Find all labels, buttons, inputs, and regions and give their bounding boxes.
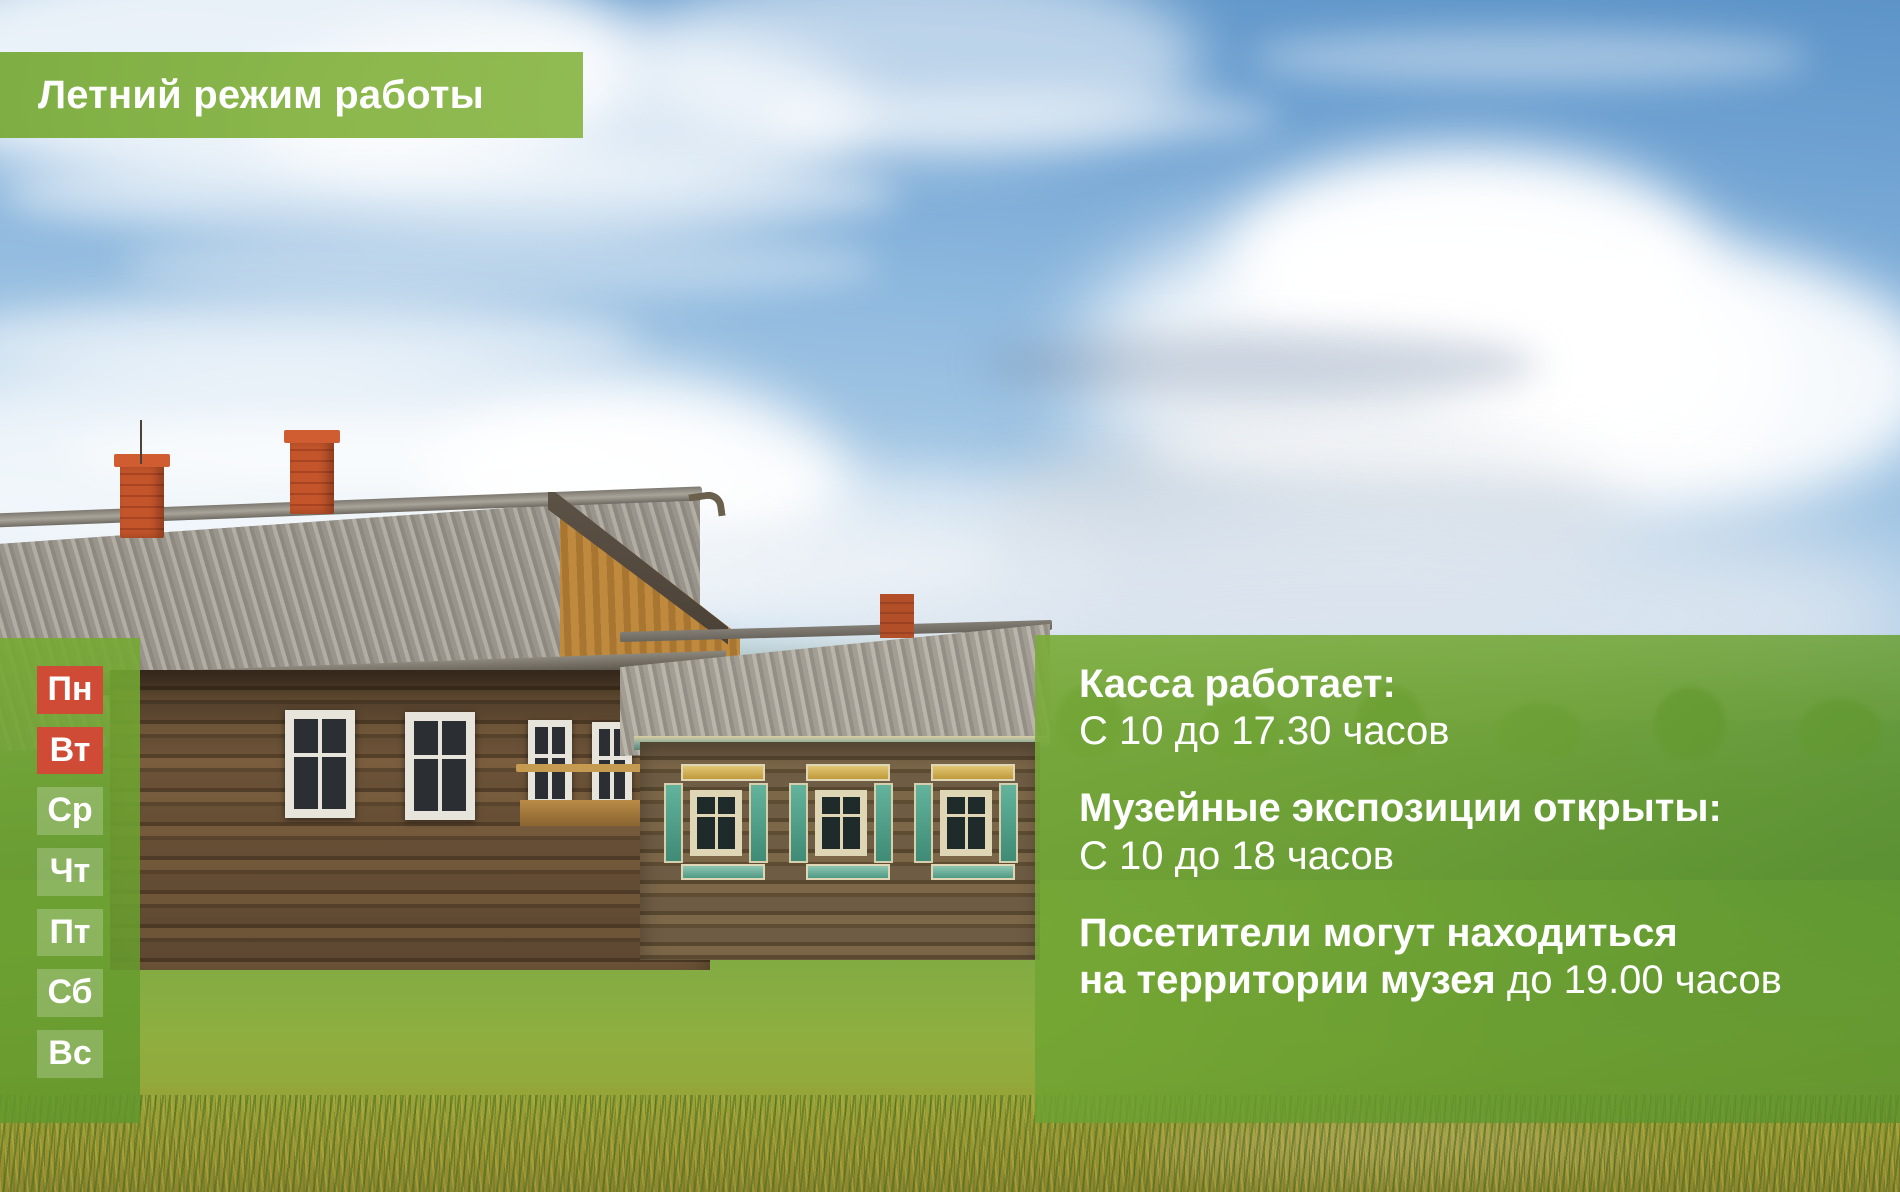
opening-hours-panel: Касса работает: С 10 до 17.30 часов Музе… bbox=[1035, 635, 1900, 1123]
second-chimney bbox=[880, 594, 914, 638]
expositions-heading: Музейные экспозиции открыты: bbox=[1079, 785, 1900, 832]
ticket-office-heading: Касса работает: bbox=[1079, 661, 1900, 708]
chimney-left bbox=[120, 464, 164, 538]
ticket-office-hours: С 10 до 17.30 часов bbox=[1079, 708, 1900, 755]
weekday-tue[interactable]: Вт bbox=[37, 727, 103, 775]
visitors-line-2-rest: до 19.00 часов bbox=[1496, 958, 1782, 1002]
title-banner: Летний режим работы bbox=[0, 52, 583, 138]
weekday-sun[interactable]: Вс bbox=[37, 1030, 103, 1078]
visitors-line-1: Посетители могут находиться bbox=[1079, 910, 1900, 957]
poster-root: Летний режим работы Пн Вт Ср Чт Пт Сб Вс… bbox=[0, 0, 1900, 1192]
weekday-sat[interactable]: Сб bbox=[37, 969, 103, 1017]
window-1 bbox=[285, 710, 355, 818]
info-block-ticket-office: Касса работает: С 10 до 17.30 часов bbox=[1079, 661, 1900, 755]
visitors-line-2: на территории музея до 19.00 часов bbox=[1079, 957, 1900, 1004]
info-block-visitors: Посетители могут находиться на территори… bbox=[1079, 910, 1900, 1004]
weekday-mon[interactable]: Пн bbox=[37, 666, 103, 714]
page-title: Летний режим работы bbox=[0, 75, 484, 115]
second-log-house bbox=[630, 630, 1080, 960]
weekday-panel: Пн Вт Ср Чт Пт Сб Вс bbox=[0, 638, 140, 1123]
weekday-wed[interactable]: Ср bbox=[37, 787, 103, 835]
chimney-right bbox=[290, 440, 334, 514]
visitors-line-2-bold: на территории музея bbox=[1079, 958, 1496, 1002]
window-2 bbox=[405, 712, 475, 820]
weekday-fri[interactable]: Пт bbox=[37, 909, 103, 957]
info-block-expositions: Музейные экспозиции открыты: С 10 до 18 … bbox=[1079, 785, 1900, 879]
weekday-thu[interactable]: Чт bbox=[37, 848, 103, 896]
roof-hook-ornament bbox=[688, 490, 725, 520]
expositions-hours: С 10 до 18 часов bbox=[1079, 833, 1900, 880]
